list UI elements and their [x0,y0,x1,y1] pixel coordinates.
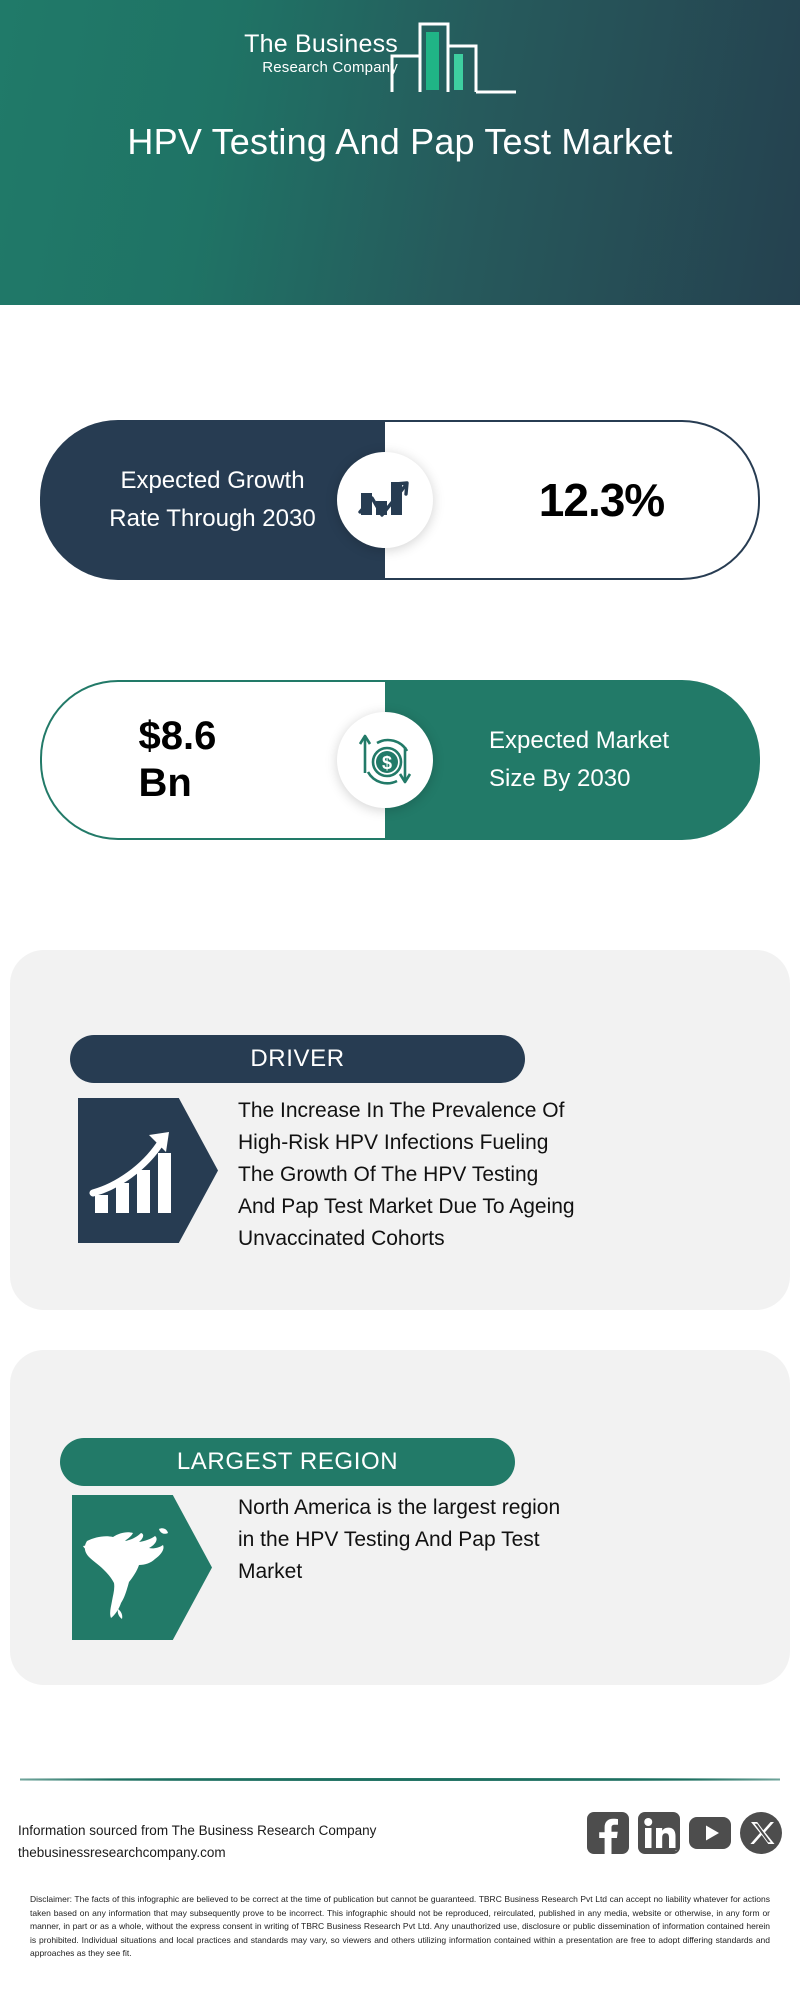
facebook-icon[interactable] [587,1812,629,1854]
linkedin-icon[interactable]: . [638,1812,680,1854]
stat-card-growth-rate: Expected Growth Rate Through 2030 12.3% [40,420,760,580]
header-banner: The Business Research Company HPV Testin… [0,0,800,305]
driver-body-text: The Increase In The Prevalence Of High-R… [238,1095,578,1255]
stat-card-market-size-value-panel: $8.6 Bn [40,680,385,840]
company-logo: The Business Research Company [218,18,518,96]
stat-card-growth-rate-label: Expected Growth Rate Through 2030 [98,462,328,538]
disclaimer-text: Disclaimer: The facts of this infographi… [30,1893,770,1961]
svg-text:.: . [675,1846,677,1853]
largest-region-body-text: North America is the largest region in t… [238,1492,568,1588]
footer-source-line-2[interactable]: thebusinessresearchcompany.com [18,1842,498,1864]
largest-region-heading: LARGEST REGION [177,1448,398,1476]
stat-card-growth-rate-value-panel: 12.3% [385,420,760,580]
social-links: . [587,1812,782,1854]
logo-bar-chart-icon [390,18,518,99]
stat-card-growth-rate-value: 12.3% [479,473,664,527]
bar-chart-arrow-up-icon [337,452,433,548]
logo-line-1: The Business [218,30,398,58]
largest-region-heading-pill: LARGEST REGION [60,1438,515,1486]
logo-wordmark: The Business Research Company [218,30,398,77]
x-twitter-icon[interactable] [740,1812,782,1854]
youtube-icon[interactable] [689,1812,731,1854]
page-title: HPV Testing And Pap Test Market [60,118,740,165]
driver-heading: DRIVER [250,1045,344,1073]
stat-card-market-size-label: Expected Market Size By 2030 [465,722,680,798]
stat-card-market-size-value: $8.6 Bn [139,713,289,807]
footer-source: Information sourced from The Business Re… [18,1820,498,1864]
logo-line-2: Research Company [218,58,398,77]
footer-source-line-1: Information sourced from The Business Re… [18,1820,498,1842]
dollar-circular-arrows-icon: $ [337,712,433,808]
stat-card-market-size: $8.6 Bn Expected Market Size By 2030 $ [40,680,760,840]
stat-card-growth-rate-label-panel: Expected Growth Rate Through 2030 [40,420,385,580]
driver-heading-pill: DRIVER [70,1035,525,1083]
footer-divider [20,1778,780,1781]
stat-card-market-size-label-panel: Expected Market Size By 2030 [385,680,760,840]
svg-text:$: $ [382,753,392,773]
